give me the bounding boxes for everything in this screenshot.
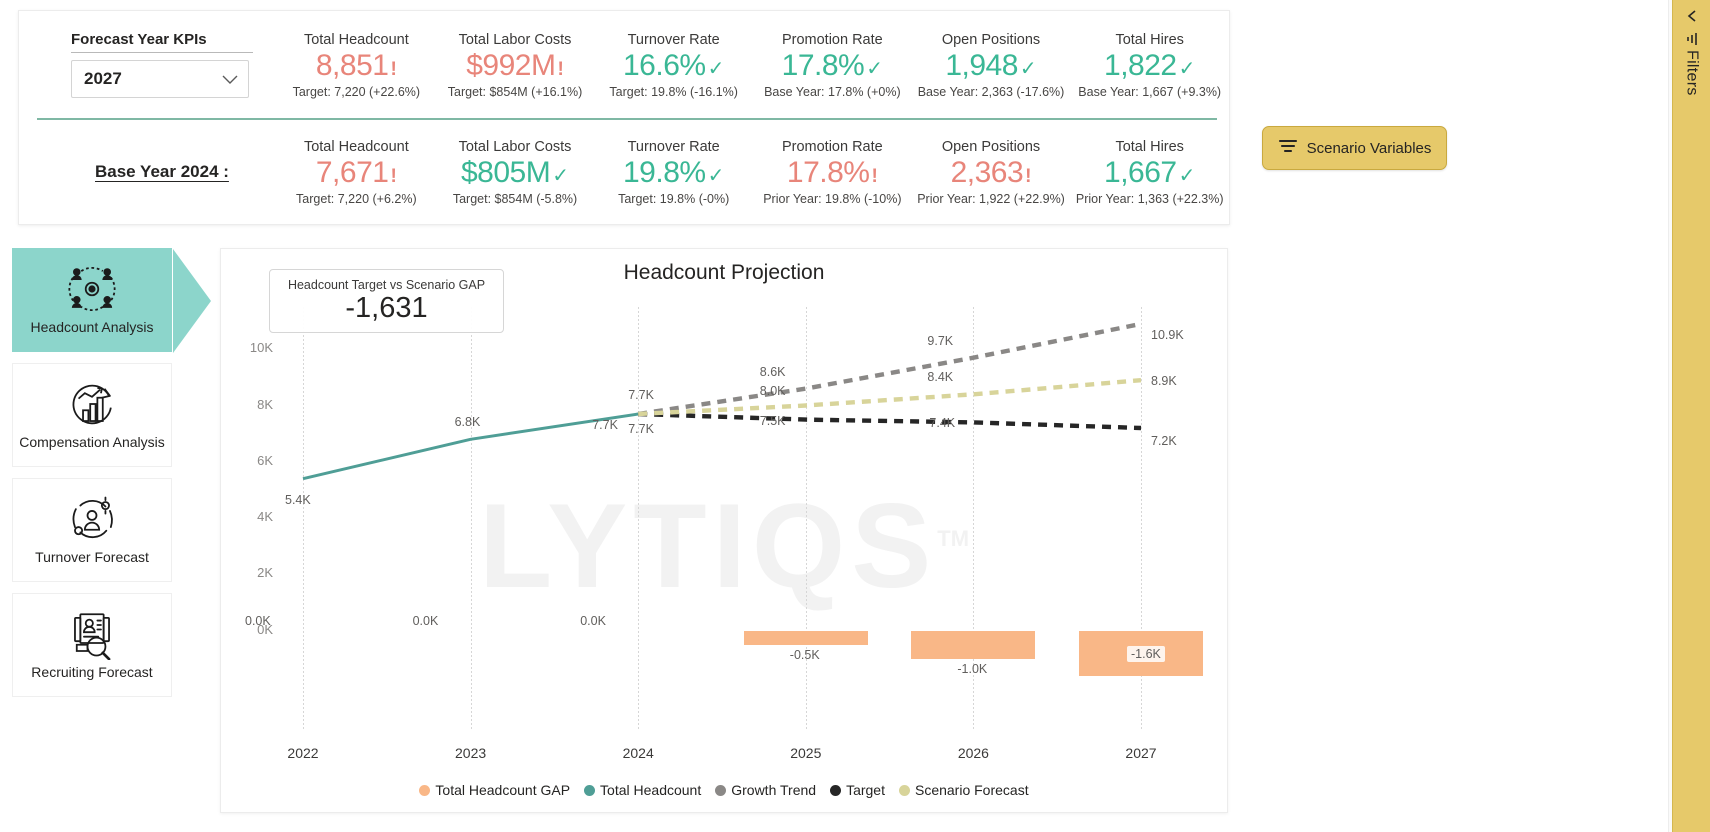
sidebar-item-compensation-analysis[interactable]: Compensation Analysis (12, 363, 172, 467)
bar-data-label: -0.5K (790, 648, 820, 662)
kpi-card: Open Positions1,948✓Base Year: 2,363 (-1… (912, 11, 1071, 118)
kpi-title: Open Positions (942, 139, 1040, 156)
gap-card-value: -1,631 (345, 293, 427, 323)
line-data-label: 5.4K (285, 493, 311, 507)
kpi-title: Total Hires (1115, 32, 1184, 49)
kpi-value: 17.8% (787, 157, 870, 189)
dashboard-root: Forecast Year KPIs 2027 Total Headcount8… (0, 0, 1710, 832)
base-year-label: Base Year 2024 : (95, 162, 229, 182)
sidebar-item-label: Turnover Forecast (31, 549, 153, 567)
y-axis-tick-label: 4K (231, 509, 273, 524)
gridline (806, 307, 807, 729)
kpi-subtext: Target: 7,220 (+6.2%) (296, 192, 417, 206)
kpi-subtext: Target: $854M (-5.8%) (453, 192, 577, 206)
filter-sliders-icon (1278, 138, 1298, 159)
line-data-label: 7.7K (628, 422, 654, 436)
status-check-icon: ✓ (552, 163, 569, 188)
gridline (471, 307, 472, 729)
x-axis-tick-label: 2024 (598, 745, 678, 761)
status-check-icon: ✓ (866, 56, 883, 81)
y-axis-tick-label: 10K (231, 340, 273, 355)
kpi-subtext: Prior Year: 1,363 (+22.3%) (1076, 192, 1224, 206)
kpi-value: $992M (466, 50, 555, 82)
kpi-value-row: 17.8%! (787, 157, 878, 189)
base-year-kpi-row: Base Year 2024 : Total Headcount7,671!Ta… (19, 118, 1229, 225)
kpi-title: Turnover Rate (628, 139, 720, 156)
series-line (638, 380, 1141, 414)
kpi-subtext: Target: 19.8% (-16.1%) (609, 85, 738, 99)
kpi-card: Total Hires1,822✓Base Year: 1,667 (+9.3%… (1070, 11, 1229, 118)
kpi-subtext: Base Year: 1,667 (+9.3%) (1078, 85, 1221, 99)
slicer-label: Forecast Year KPIs (71, 31, 253, 53)
status-check-icon: ✓ (708, 56, 725, 81)
line-data-label: 8.6K (760, 365, 786, 379)
legend-label: Target (846, 782, 885, 798)
legend-label: Total Headcount (600, 782, 701, 798)
sidebar-item-label: Compensation Analysis (15, 434, 169, 452)
gap-bar[interactable] (744, 631, 868, 645)
x-axis-tick-label: 2027 (1101, 745, 1181, 761)
series-line (638, 414, 1141, 428)
kpi-value-row: 8,851! (316, 50, 397, 82)
headcount-projection-card: LYTIQSTM Headcount Projection Headcount … (220, 248, 1228, 813)
sidebar-item-label: Recruiting Forecast (27, 664, 156, 682)
kpi-value: 1,667 (1104, 157, 1177, 189)
kpi-value: $805M (461, 157, 550, 189)
status-check-icon: ✓ (708, 163, 725, 188)
line-data-label: 7.5K (760, 414, 786, 428)
y-axis-tick-label: 8K (231, 397, 273, 412)
legend-item[interactable]: Total Headcount (584, 782, 701, 798)
line-data-label: 7.4K (929, 416, 955, 430)
legend-label: Total Headcount GAP (435, 782, 570, 798)
legend-label: Scenario Forecast (915, 782, 1029, 798)
turnover-forecast-icon (65, 493, 119, 545)
gridline (303, 307, 304, 729)
kpi-value-row: 1,822✓ (1104, 50, 1195, 82)
status-check-icon: ✓ (1179, 56, 1196, 81)
kpi-subtext: Prior Year: 1,922 (+22.9%) (917, 192, 1065, 206)
line-data-label: 8.9K (1151, 374, 1177, 388)
gap-bar[interactable] (911, 631, 1035, 659)
status-alert-icon: ! (390, 166, 396, 188)
base-kpi-cells: Total Headcount7,671!Target: 7,220 (+6.2… (277, 118, 1229, 225)
sidebar-item-turnover-forecast[interactable]: Turnover Forecast (12, 478, 172, 582)
bar-data-label: 0.0K (413, 614, 439, 628)
kpi-subtext: Target: 19.8% (-0%) (618, 192, 729, 206)
scenario-variables-button[interactable]: Scenario Variables (1262, 126, 1447, 170)
kpi-panel: Forecast Year KPIs 2027 Total Headcount8… (18, 10, 1230, 225)
forecast-kpi-cells: Total Headcount8,851!Target: 7,220 (+22.… (277, 11, 1229, 118)
line-data-label: 9.7K (927, 334, 953, 348)
kpi-value-row: $992M! (466, 50, 564, 82)
sidebar-nav: Headcount AnalysisCompensation AnalysisT… (12, 248, 180, 708)
kpi-card: Total Headcount7,671!Target: 7,220 (+6.2… (277, 118, 436, 225)
kpi-card: Promotion Rate17.8%✓Base Year: 17.8% (+0… (753, 11, 912, 118)
line-data-label: 7.2K (1151, 434, 1177, 448)
kpi-subtext: Prior Year: 19.8% (-10%) (763, 192, 901, 206)
kpi-title: Promotion Rate (782, 139, 883, 156)
scenario-variables-label: Scenario Variables (1307, 140, 1432, 157)
kpi-value-row: 2,363! (951, 157, 1032, 189)
status-check-icon: ✓ (1020, 56, 1037, 81)
kpi-title: Total Labor Costs (459, 32, 572, 49)
kpi-value: 17.8% (782, 50, 865, 82)
bar-data-label: 0.0K (245, 614, 271, 628)
line-data-label: 7.7K (628, 388, 654, 402)
kpi-value-row: 1,948✓ (945, 50, 1036, 82)
bar-data-label: -1.6K (1127, 646, 1165, 662)
kpi-value: 1,948 (945, 50, 1018, 82)
kpi-value: 7,671 (316, 157, 389, 189)
line-data-label: 6.8K (455, 415, 481, 429)
forecast-year-value: 2027 (84, 69, 122, 89)
headcount-gap-card: Headcount Target vs Scenario GAP -1,631 (269, 269, 504, 333)
kpi-value: 2,363 (951, 157, 1024, 189)
chevron-expand-icon[interactable] (1684, 8, 1700, 24)
kpi-value: 1,822 (1104, 50, 1177, 82)
status-alert-icon: ! (390, 59, 396, 81)
line-data-label: 10.9K (1151, 328, 1184, 342)
legend-item[interactable]: Scenario Forecast (899, 782, 1029, 798)
kpi-value: 8,851 (316, 50, 389, 82)
kpi-value-row: $805M✓ (461, 157, 569, 189)
kpi-card: Total Labor Costs$992M!Target: $854M (+1… (436, 11, 595, 118)
line-data-label: 7.7K (592, 418, 618, 432)
kpi-subtext: Target: $854M (+16.1%) (448, 85, 582, 99)
line-data-label: 8.4K (927, 370, 953, 384)
kpi-value: 16.6% (623, 50, 706, 82)
gap-card-title: Headcount Target vs Scenario GAP (288, 278, 485, 292)
kpi-subtext: Target: 7,220 (+22.6%) (293, 85, 421, 99)
chart-legend: Total Headcount GAPTotal HeadcountGrowth… (221, 782, 1227, 798)
legend-item[interactable]: Target (830, 782, 885, 798)
kpi-title: Total Hires (1115, 139, 1184, 156)
kpi-title: Total Headcount (304, 32, 409, 49)
status-alert-icon: ! (1025, 166, 1031, 188)
sidebar-item-recruiting-forecast[interactable]: Recruiting Forecast (12, 593, 172, 697)
kpi-value-row: 17.8%✓ (782, 50, 883, 82)
kpi-title: Open Positions (942, 32, 1040, 49)
x-axis-tick-label: 2022 (263, 745, 343, 761)
kpi-value-row: 7,671! (316, 157, 397, 189)
kpi-card: Turnover Rate16.6%✓Target: 19.8% (-16.1%… (594, 11, 753, 118)
recruiting-forecast-icon (65, 608, 119, 660)
compensation-analysis-icon (65, 378, 119, 430)
headcount-analysis-icon (65, 263, 119, 315)
legend-color-swatch (830, 785, 841, 796)
base-year-block: Base Year 2024 : (19, 118, 277, 225)
chevron-down-icon[interactable] (222, 75, 238, 84)
legend-item[interactable]: Total Headcount GAP (419, 782, 570, 798)
y-axis-tick-label: 6K (231, 453, 273, 468)
kpi-value-row: 19.8%✓ (623, 157, 724, 189)
kpi-subtext: Base Year: 2,363 (-17.6%) (918, 85, 1065, 99)
x-axis-tick-label: 2026 (933, 745, 1013, 761)
forecast-year-slicer: Forecast Year KPIs 2027 (19, 11, 277, 118)
kpi-card: Open Positions2,363!Prior Year: 1,922 (+… (912, 118, 1071, 225)
status-alert-icon: ! (871, 166, 877, 188)
series-line (638, 324, 1141, 414)
chart-lines-layer (221, 249, 1229, 814)
kpi-value: 19.8% (623, 157, 706, 189)
kpi-card: Total Headcount8,851!Target: 7,220 (+22.… (277, 11, 436, 118)
filters-label: Filters (1683, 50, 1701, 96)
kpi-title: Turnover Rate (628, 32, 720, 49)
status-alert-icon: ! (557, 59, 563, 81)
x-axis-tick-label: 2023 (431, 745, 511, 761)
sidebar-item-label: Headcount Analysis (27, 319, 158, 337)
kpi-title: Promotion Rate (782, 32, 883, 49)
gridline (638, 307, 639, 729)
legend-color-swatch (584, 785, 595, 796)
kpi-subtext: Base Year: 17.8% (+0%) (764, 85, 901, 99)
kpi-value-row: 16.6%✓ (623, 50, 724, 82)
legend-label: Growth Trend (731, 782, 816, 798)
kpi-card: Total Hires1,667✓Prior Year: 1,363 (+22.… (1070, 118, 1229, 225)
legend-item[interactable]: Growth Trend (715, 782, 816, 798)
legend-color-swatch (899, 785, 910, 796)
chart-plot-area[interactable]: 2022202320242025202620270K2K4K6K8K10K0.0… (221, 249, 1229, 814)
legend-color-swatch (715, 785, 726, 796)
kpi-title: Total Headcount (304, 139, 409, 156)
kpi-value-row: 1,667✓ (1104, 157, 1195, 189)
kpi-title: Total Labor Costs (459, 139, 572, 156)
legend-color-swatch (419, 785, 430, 796)
kpi-card: Total Labor Costs$805M✓Target: $854M (-5… (436, 118, 595, 225)
line-data-label: 8.0K (760, 384, 786, 398)
bar-data-label: 0.0K (580, 614, 606, 628)
kpi-card: Promotion Rate17.8%!Prior Year: 19.8% (-… (753, 118, 912, 225)
x-axis-tick-label: 2025 (766, 745, 846, 761)
y-axis-tick-label: 2K (231, 565, 273, 580)
sidebar-item-headcount-analysis[interactable]: Headcount Analysis (12, 248, 172, 352)
kpi-card: Turnover Rate19.8%✓Target: 19.8% (-0%) (594, 118, 753, 225)
forecast-year-dropdown[interactable]: 2027 (71, 60, 249, 98)
filter-icon (1685, 32, 1699, 46)
forecast-kpi-row: Forecast Year KPIs 2027 Total Headcount8… (19, 11, 1229, 118)
status-check-icon: ✓ (1179, 163, 1196, 188)
filters-pane[interactable]: Filters (1672, 0, 1710, 832)
bar-data-label: -1.0K (957, 662, 987, 676)
